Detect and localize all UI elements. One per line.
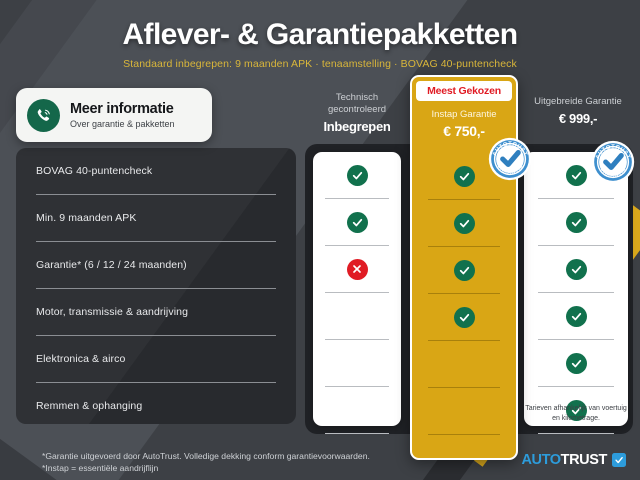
plan-cell: [428, 200, 500, 246]
feature-label: Garantie* (6 / 12 / 24 maanden): [36, 259, 187, 271]
plan-cell: [325, 387, 389, 433]
plan-note-uitgebreide-garantie: Tarieven afhankelijk van voertuig en kil…: [524, 404, 628, 423]
more-information-card[interactable]: Meer informatie Over garantie & pakkette…: [16, 88, 212, 142]
feature-row: Motor, transmissie & aandrijving: [36, 289, 276, 335]
plan-cell: [325, 199, 389, 245]
feature-row: Elektronica & airco: [36, 336, 276, 382]
check-icon: [347, 165, 368, 186]
feature-label: Elektronica & airco: [36, 353, 125, 365]
plan-header-value: Inbegrepen: [305, 119, 409, 134]
plan-column-uitgebreide-garantie[interactable]: [524, 152, 628, 426]
plan-cell: [538, 199, 614, 245]
plan-header-small-line1: Uitgebreide Garantie: [524, 96, 632, 108]
more-information-subtitle: Over garantie & pakketten: [70, 119, 175, 129]
header: Aflever- & Garantiepakketten Standaard i…: [0, 18, 640, 70]
feature-row: Min. 9 maanden APK: [36, 195, 276, 241]
plan-cell: [428, 294, 500, 340]
autotrust-garantie-seal-icon: AUTOTRUST GARANTIE: [590, 139, 636, 185]
plan-cell: [428, 388, 500, 434]
check-icon: [566, 353, 587, 374]
plan-cell-divider: [538, 433, 614, 434]
plan-cell: [538, 340, 614, 386]
plan-cell: [538, 246, 614, 292]
autotrust-garantie-seal-icon: AUTOTRUST GARANTIE: [487, 136, 533, 182]
feature-label: Motor, transmissie & aandrijving: [36, 306, 188, 318]
feature-row: Garantie* (6 / 12 / 24 maanden): [36, 242, 276, 288]
feature-label: BOVAG 40-puntencheck: [36, 165, 152, 177]
features-panel: BOVAG 40-puntencheckMin. 9 maanden APKGa…: [16, 148, 296, 424]
feature-row: BOVAG 40-puntencheck: [36, 148, 276, 194]
check-icon: [566, 212, 587, 233]
check-icon: [566, 165, 587, 186]
plan-header-small-line1: Instap Garantie: [412, 109, 516, 120]
logo-text-auto: AUTO: [521, 452, 560, 468]
plan-cell: [325, 340, 389, 386]
footer-notes: *Garantie uitgevoerd door AutoTrust. Vol…: [42, 450, 370, 474]
footer-note-1: *Garantie uitgevoerd door AutoTrust. Vol…: [42, 450, 370, 462]
plan-cell: [325, 293, 389, 339]
plan-cell: [538, 293, 614, 339]
check-icon: [454, 260, 475, 281]
check-icon: [566, 306, 587, 327]
cross-icon: [347, 259, 368, 280]
more-information-text: Meer informatie Over garantie & pakkette…: [70, 101, 175, 129]
plan-cell: [325, 246, 389, 292]
feature-row: Remmen & ophanging: [36, 383, 276, 424]
plan-cell-divider: [325, 433, 389, 434]
page-title: Aflever- & Garantiepakketten: [0, 18, 640, 52]
check-icon: [454, 213, 475, 234]
plan-column-technisch-gecontroleerd[interactable]: [313, 152, 401, 426]
plan-cells: [412, 153, 516, 435]
most-chosen-badge: Meest Gekozen: [416, 81, 512, 101]
plan-cells: [524, 152, 628, 434]
check-icon: [454, 166, 475, 187]
feature-label: Remmen & ophanging: [36, 400, 142, 412]
features-list: BOVAG 40-puntencheckMin. 9 maanden APKGa…: [16, 148, 296, 424]
plan-cell-divider: [428, 434, 500, 435]
feature-label: Min. 9 maanden APK: [36, 212, 136, 224]
more-information-title: Meer informatie: [70, 101, 175, 117]
page-subtitle: Standaard inbegrepen: 9 maanden APK · te…: [0, 58, 640, 70]
plan-header-small-line1: Technisch: [305, 92, 409, 104]
plan-header-value: € 999,-: [524, 111, 632, 126]
plan-cell: [428, 341, 500, 387]
checkbox-icon: [612, 453, 626, 467]
plan-header-technisch-gecontroleerd: Technisch gecontroleerd Inbegrepen: [305, 92, 409, 134]
phone-icon: [27, 99, 60, 132]
plan-header-instap-garantie: Instap Garantie € 750,-: [412, 101, 516, 139]
logo-text-trust: TRUST: [561, 452, 607, 468]
plan-header-uitgebreide-garantie: Uitgebreide Garantie € 999,-: [524, 96, 632, 126]
plan-cells: [313, 152, 401, 434]
plan-cell: [325, 152, 389, 198]
plan-cell: [428, 247, 500, 293]
footer-note-2: *Instap = essentiële aandrijflijn: [42, 462, 370, 474]
plan-header-small-line2: gecontroleerd: [305, 104, 409, 116]
check-icon: [454, 307, 475, 328]
autotrust-logo: AUTO TRUST: [521, 452, 626, 468]
background-diagonal-stripe: [0, 150, 10, 480]
check-icon: [566, 259, 587, 280]
poster-canvas: Aflever- & Garantiepakketten Standaard i…: [0, 0, 640, 480]
plan-column-instap-garantie[interactable]: Meest Gekozen Instap Garantie € 750,-: [410, 75, 518, 460]
check-icon: [347, 212, 368, 233]
